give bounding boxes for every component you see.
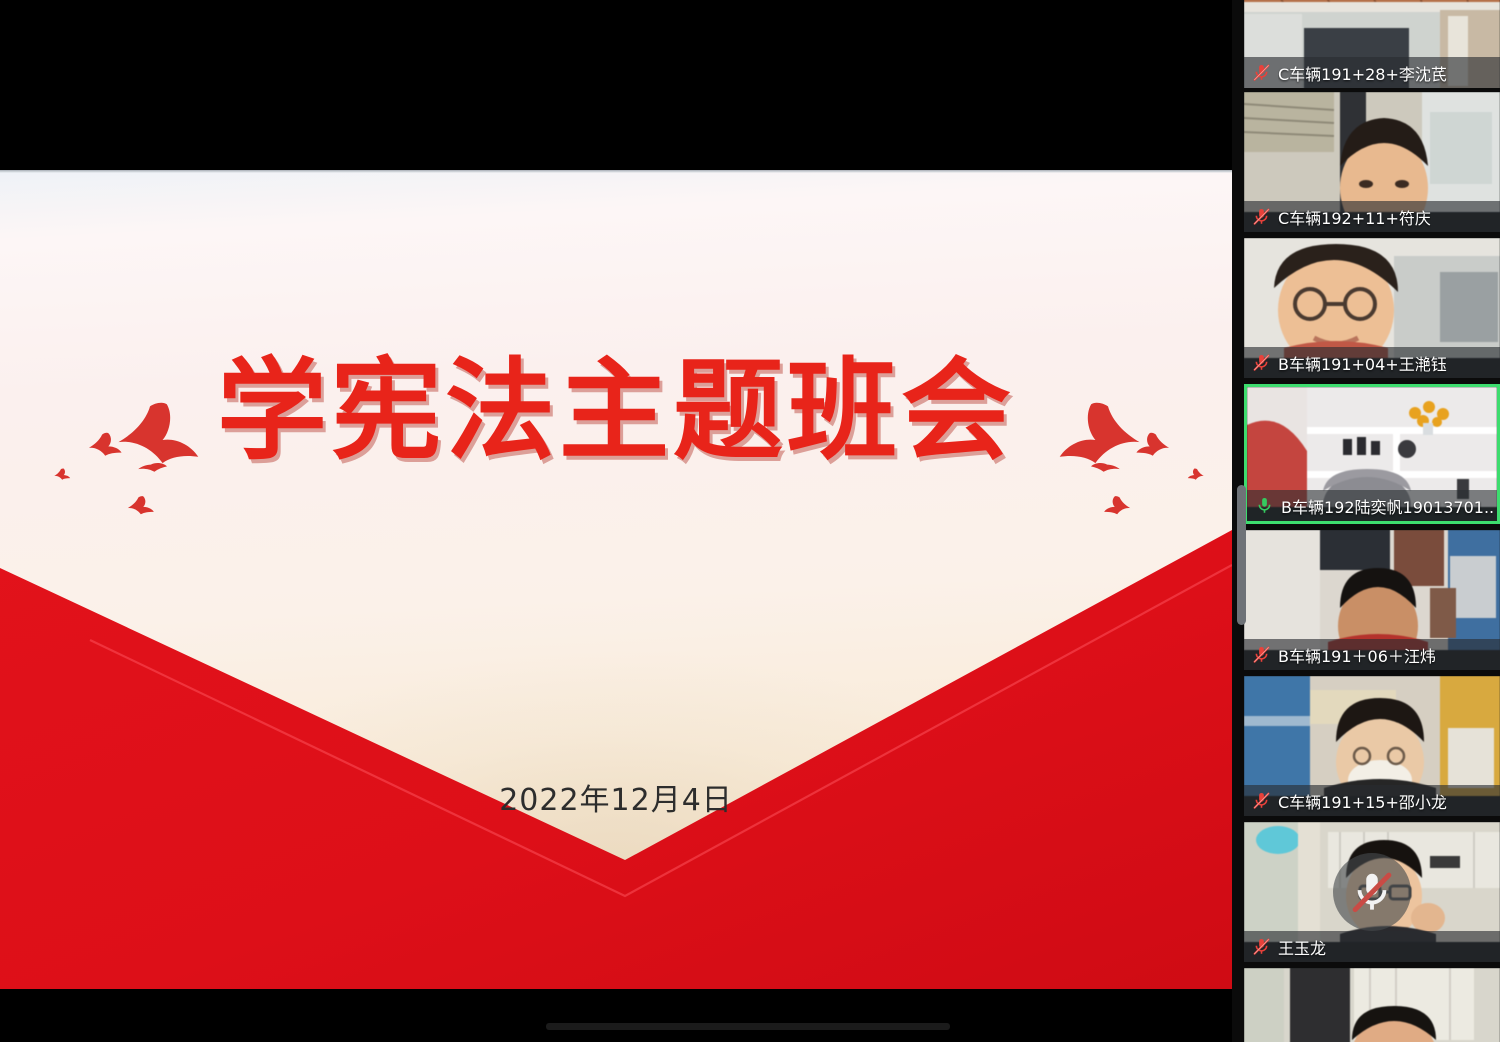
slide-date: 2022年12月4日 [0, 775, 1232, 819]
participant-filmstrip[interactable]: C车辆191+28+李沈芪 C车辆192+11+符庆 B车辆191+04+王滟钰… [1232, 0, 1500, 1042]
participant-name-bar: C车辆191+15+邵小龙 [1244, 785, 1500, 816]
participant-tile[interactable]: B车辆192陆奕帆19013701... [1244, 384, 1500, 524]
participant-name: B车辆192陆奕帆19013701... [1281, 494, 1493, 518]
filmstrip-scroll-container[interactable]: C车辆191+28+李沈芪 C车辆192+11+符庆 B车辆191+04+王滟钰… [1232, 0, 1500, 1042]
participant-name-bar: B车辆191＋06＋汪炜 [1244, 639, 1500, 670]
participant-video-feed [1244, 968, 1500, 1042]
mic-muted-icon[interactable] [1252, 645, 1271, 664]
mic-active-icon[interactable] [1255, 496, 1274, 515]
filmstrip-scrollbar[interactable] [1237, 485, 1246, 625]
participant-tile[interactable]: 王玉龙 [1244, 822, 1500, 962]
slide-top-edge [0, 170, 1232, 173]
shared-screen-stage[interactable]: 学宪法主题班会 2022年12月4日 [0, 0, 1232, 1042]
mic-muted-icon[interactable] [1252, 353, 1271, 372]
meeting-toolbar-hidden[interactable] [546, 1023, 950, 1030]
participant-tile[interactable]: B车辆191＋06＋汪炜 [1244, 530, 1500, 670]
slide-title: 学宪法主题班会 [0, 356, 1232, 466]
mic-muted-icon[interactable] [1252, 937, 1271, 956]
participant-tile[interactable]: B车辆191+04+王滟钰 [1244, 238, 1500, 378]
mic-muted-overlay-icon [1333, 853, 1411, 931]
participant-name-bar: C车辆192+11+符庆 [1244, 201, 1500, 232]
participant-name: C车辆192+11+符庆 [1278, 205, 1431, 229]
participant-tile[interactable]: C车辆191+15+邵小龙 [1244, 676, 1500, 816]
participant-tile[interactable]: C车辆191+28+李沈芪 [1244, 0, 1500, 88]
video-conference-window: 学宪法主题班会 2022年12月4日 C车辆191+28+李沈芪 C车辆192+… [0, 0, 1500, 1042]
slide-title-container: 学宪法主题班会 [0, 356, 1232, 466]
participant-name-bar: 王玉龙 [1244, 931, 1500, 962]
participant-name: B车辆191＋06＋汪炜 [1278, 643, 1436, 667]
presentation-slide: 学宪法主题班会 2022年12月4日 [0, 170, 1232, 989]
participant-name: C车辆191+28+李沈芪 [1278, 61, 1447, 85]
participant-name: B车辆191+04+王滟钰 [1278, 351, 1447, 375]
slide-red-chevron-shape [0, 170, 1232, 989]
slide-date-container: 2022年12月4日 [0, 775, 1232, 819]
participant-tile[interactable] [1244, 968, 1500, 1042]
participant-name-bar: B车辆192陆奕帆19013701... [1247, 490, 1497, 521]
mic-muted-icon[interactable] [1252, 63, 1271, 82]
mic-muted-icon[interactable] [1252, 207, 1271, 226]
participant-tile[interactable]: C车辆192+11+符庆 [1244, 92, 1500, 232]
participant-name: 王玉龙 [1278, 935, 1326, 959]
participant-name-bar: B车辆191+04+王滟钰 [1244, 347, 1500, 378]
participant-name-bar: C车辆191+28+李沈芪 [1244, 57, 1500, 88]
participant-name: C车辆191+15+邵小龙 [1278, 789, 1447, 813]
slide-cream-notch-shape [0, 170, 1232, 989]
mic-muted-icon[interactable] [1252, 791, 1271, 810]
